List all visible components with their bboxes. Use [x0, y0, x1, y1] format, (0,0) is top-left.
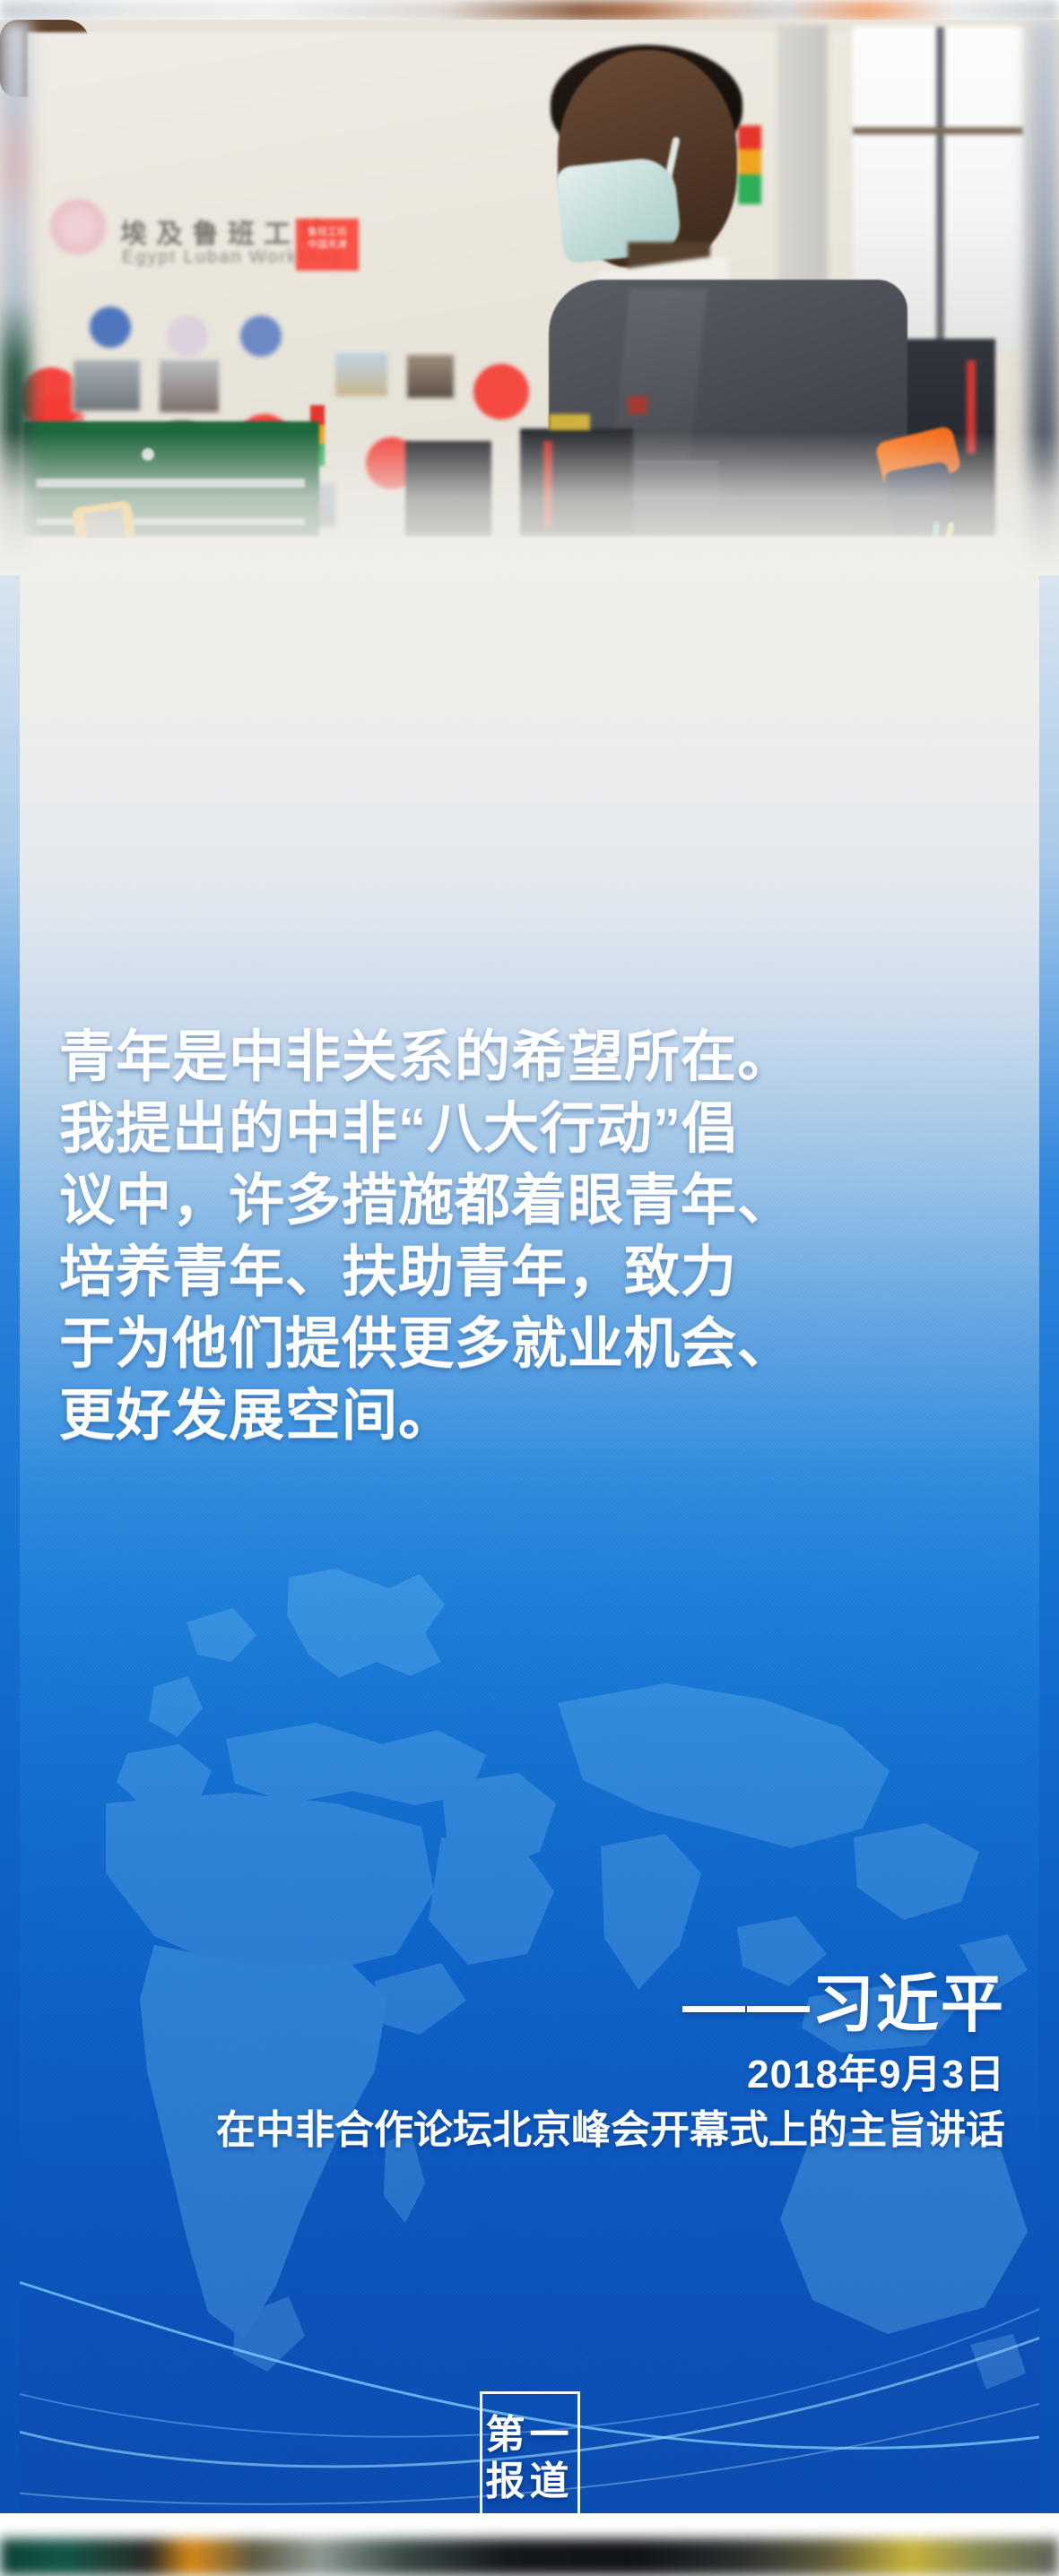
wall-photo-2 — [158, 359, 221, 414]
photo-bottom-fade — [0, 432, 1059, 575]
brand-badge[interactable]: 第一 报道 — [480, 2391, 580, 2526]
speech-date: 2018年9月3日 — [54, 2047, 1005, 2103]
attribution-block: ——习近平 2018年9月3日 在中非合作论坛北京峰会开幕式上的主旨讲话 — [0, 1961, 1059, 2158]
wall-photo-3 — [334, 351, 389, 398]
quote-line-3: 议中，许多措施都着眼青年、 — [59, 1165, 1000, 1237]
wall-emblem-3 — [240, 316, 282, 357]
previous-card-sliver — [0, 0, 1059, 22]
quote-line-5: 于为他们提供更多就业机会、 — [59, 1309, 1000, 1380]
quote-line-1: 青年是中非关系的希望所在。 — [59, 1022, 1000, 1094]
rack-label-1 — [549, 414, 590, 430]
brand-badge-line-2: 报道 — [486, 2459, 574, 2504]
wall-column — [777, 25, 828, 294]
hero-photo: 埃及鲁班工坊 Egypt Luban Workshop 鲁班工坊 中国天津 — [0, 20, 1059, 575]
wall-photo-1 — [72, 359, 142, 412]
speaker-name: ——习近平 — [54, 1961, 1005, 2047]
quote-line-4: 培养青年、扶助青年，致力 — [59, 1237, 1000, 1309]
quote-block: 青年是中非关系的希望所在。 我提出的中非“八大行动”倡 议中，许多措施都着眼青年… — [0, 1022, 1059, 1452]
window-mullion-horizontal — [853, 127, 1023, 134]
window-mullion-vertical — [936, 27, 944, 350]
poster-card: 埃及鲁班工坊 Egypt Luban Workshop 鲁班工坊 中国天津 — [0, 0, 1059, 2576]
right-edge-strip — [1039, 538, 1059, 2513]
wall-emblem-1 — [90, 307, 131, 348]
wall-stamp-text: 鲁班工坊 中国天津 — [301, 226, 353, 251]
brand-badge-line-1: 第一 — [486, 2413, 574, 2458]
quote-line-2: 我提出的中非“八大行动”倡 — [59, 1094, 1000, 1165]
wall-seal-logo — [50, 199, 106, 255]
wall-emblem-2 — [167, 316, 208, 357]
signal-tower-rear — [738, 125, 761, 204]
card-separator — [0, 2515, 1059, 2538]
left-edge-strip — [0, 538, 20, 2513]
worker-badge-pin — [628, 396, 647, 414]
next-card-sliver — [0, 2538, 1059, 2576]
quote-line-6: 更好发展空间。 — [59, 1380, 1000, 1452]
speech-occasion: 在中非合作论坛北京峰会开幕式上的主旨讲话 — [54, 2103, 1005, 2158]
wall-dot-5 — [473, 364, 529, 419]
wall-photo-4 — [405, 353, 456, 400]
